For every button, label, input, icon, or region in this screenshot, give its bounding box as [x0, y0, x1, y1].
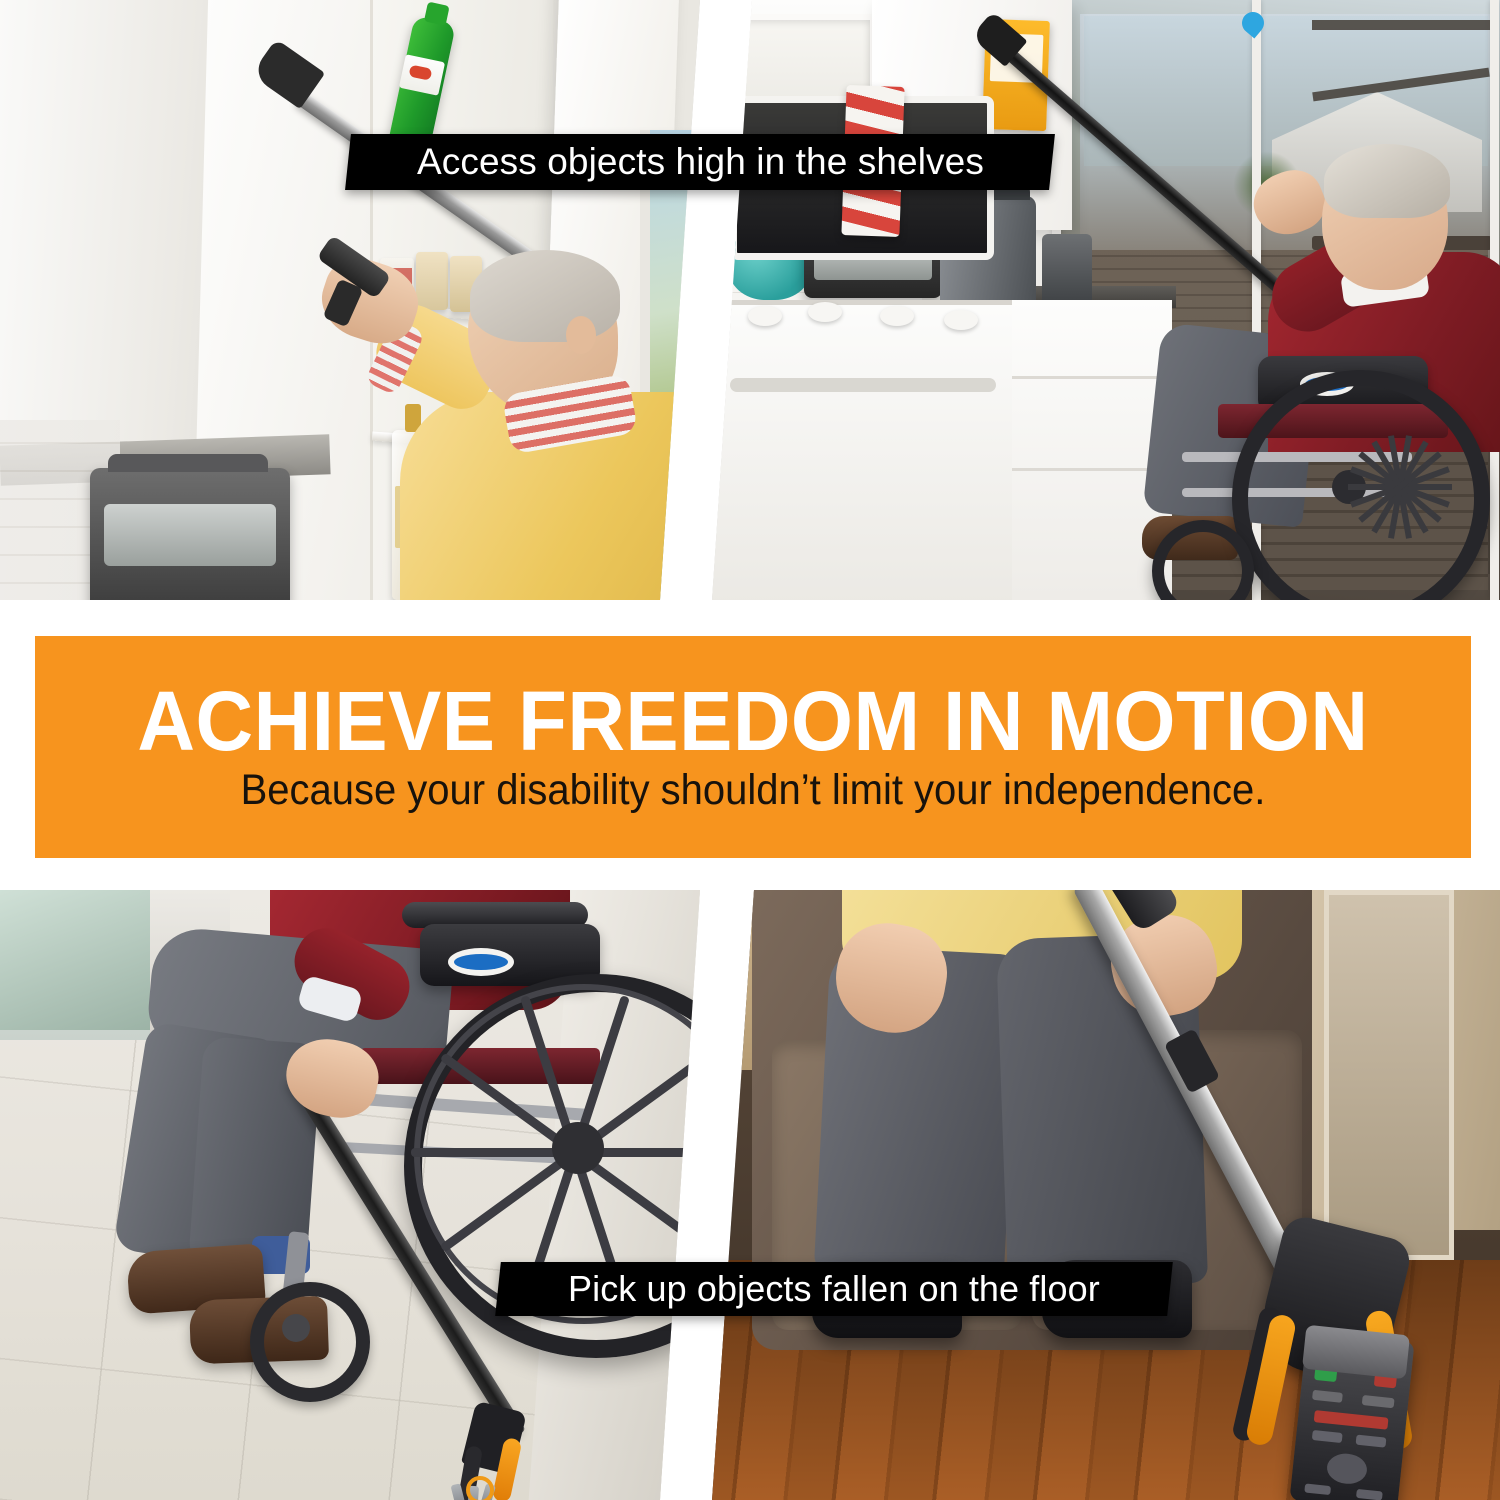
- photo-panel-top-left: [0, 0, 700, 600]
- photo-panel-bottom-left: [0, 890, 700, 1500]
- stove-burner: [944, 310, 978, 330]
- caster-hub: [282, 1314, 310, 1342]
- banner-subline: Because your disability shouldn’t limit …: [241, 767, 1266, 814]
- remote-button: [1312, 1390, 1343, 1403]
- key: [451, 1483, 468, 1500]
- stove-oven: [712, 300, 1012, 600]
- caption-bar-top: Access objects high in the shelves: [345, 134, 1055, 190]
- person-hair: [1324, 144, 1450, 218]
- stove-burner: [808, 302, 842, 322]
- remote-button: [1362, 1395, 1395, 1408]
- product-feature-collage: Access objects high in the shelves ACHIE…: [0, 0, 1500, 1500]
- oven-handle: [730, 378, 996, 392]
- caption-bar-bottom: Pick up objects fallen on the floor: [495, 1262, 1173, 1316]
- stove-burner: [880, 306, 914, 326]
- photo-panel-top-right: [712, 0, 1500, 600]
- kitchen-appliance: [90, 468, 290, 600]
- pergola-beam: [1312, 20, 1490, 30]
- photo-panel-bottom-right: [712, 890, 1500, 1500]
- door-panel: [1324, 890, 1454, 1260]
- caption-top-text: Access objects high in the shelves: [417, 141, 984, 183]
- remote-button: [1356, 1435, 1387, 1448]
- remote-button: [1356, 1489, 1383, 1500]
- person-hair: [470, 250, 620, 342]
- food-can: [416, 252, 448, 310]
- banner-headline: ACHIEVE FREEDOM IN MOTION: [137, 680, 1368, 762]
- wheel-hub: [552, 1122, 604, 1174]
- remote-button: [1312, 1430, 1343, 1443]
- wheel-spoke: [411, 1148, 575, 1157]
- person-ear: [566, 316, 596, 354]
- remote-dpad: [1326, 1452, 1369, 1486]
- wheelchair-brand-badge: [448, 948, 514, 976]
- remote-button: [1314, 1410, 1389, 1430]
- wheelchair-caster: [250, 1282, 370, 1402]
- glass-partition: [0, 890, 157, 1030]
- key-ring: [466, 1476, 494, 1500]
- remote-button: [1304, 1483, 1331, 1495]
- keys-on-floor: [448, 1484, 504, 1500]
- promo-banner: ACHIEVE FREEDOM IN MOTION Because your d…: [35, 636, 1471, 858]
- caption-bottom-text: Pick up objects fallen on the floor: [568, 1268, 1100, 1310]
- stove-burner: [748, 306, 782, 326]
